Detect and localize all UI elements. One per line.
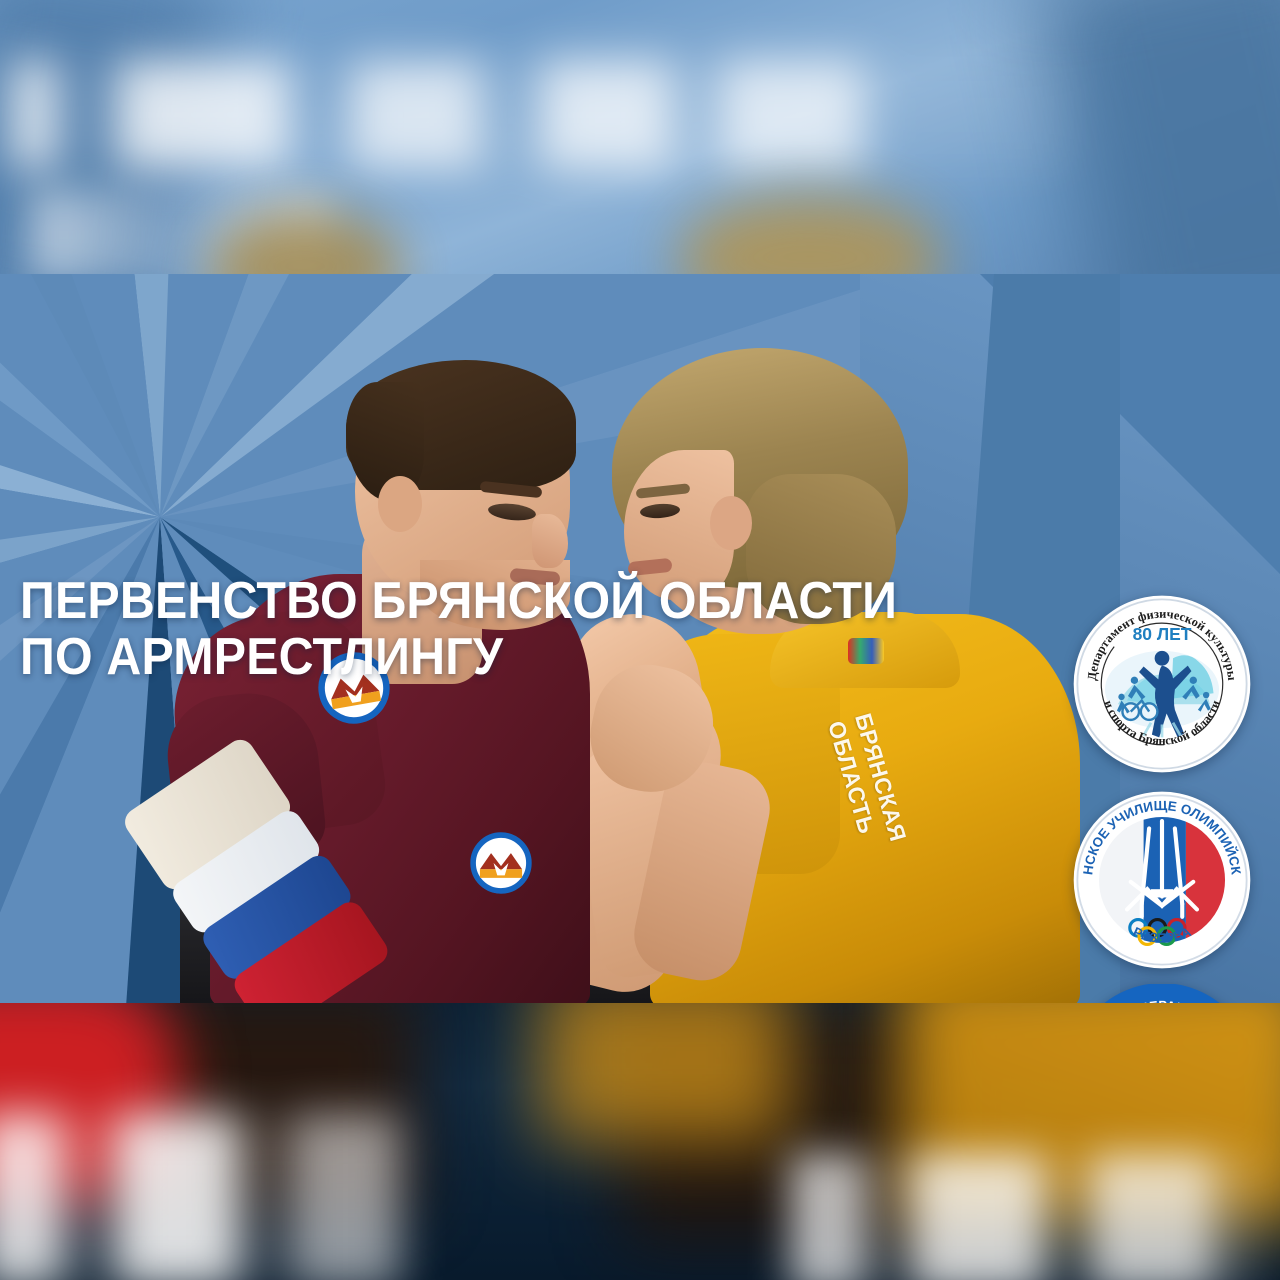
blurred-title-echo (10, 60, 1070, 170)
logo-department-sport-bryansk: 80 ЛЕТ Департамент физической культуры и… (1070, 592, 1254, 776)
blurred-top-band (0, 0, 1280, 274)
blurred-bottom-band (0, 1003, 1280, 1280)
athlete-right-ear (710, 496, 752, 550)
blurred-head-right (680, 196, 940, 274)
logo-bryansk-olympic-reserve-school: БРЯНСКОЕ УЧИЛИЩЕ ОЛИМПИЙСКОГО РЕЗЕРВА (1070, 788, 1254, 972)
blurred-venue-echo (790, 1153, 1260, 1280)
partner-logos: 80 ЛЕТ Департамент физической культуры и… (1070, 592, 1260, 1003)
logo-armwrestling-federation-bryansk: ФЕДЕРАЦИЯ АРМРЕСТЛИНГА БРЯНСКОЙ ОБЛАСТИ (1070, 984, 1254, 1003)
event-poster: БРЯНСКАЯОБЛАСТЬ (0, 0, 1280, 1280)
page-title: ПЕРВЕНСТВО БРЯНСКОЙ ОБЛАСТИ ПО АРМРЕСТЛИ… (20, 574, 897, 685)
blurred-date-echo (0, 1113, 400, 1280)
chest-federation-patch-icon (470, 832, 532, 894)
athlete-left-ear (378, 476, 422, 532)
main-photograph: БРЯНСКАЯОБЛАСТЬ (0, 274, 1280, 1003)
blur-shape-gold-center (540, 1003, 790, 1143)
logo1-center-text: 80 ЛЕТ (1133, 624, 1192, 644)
